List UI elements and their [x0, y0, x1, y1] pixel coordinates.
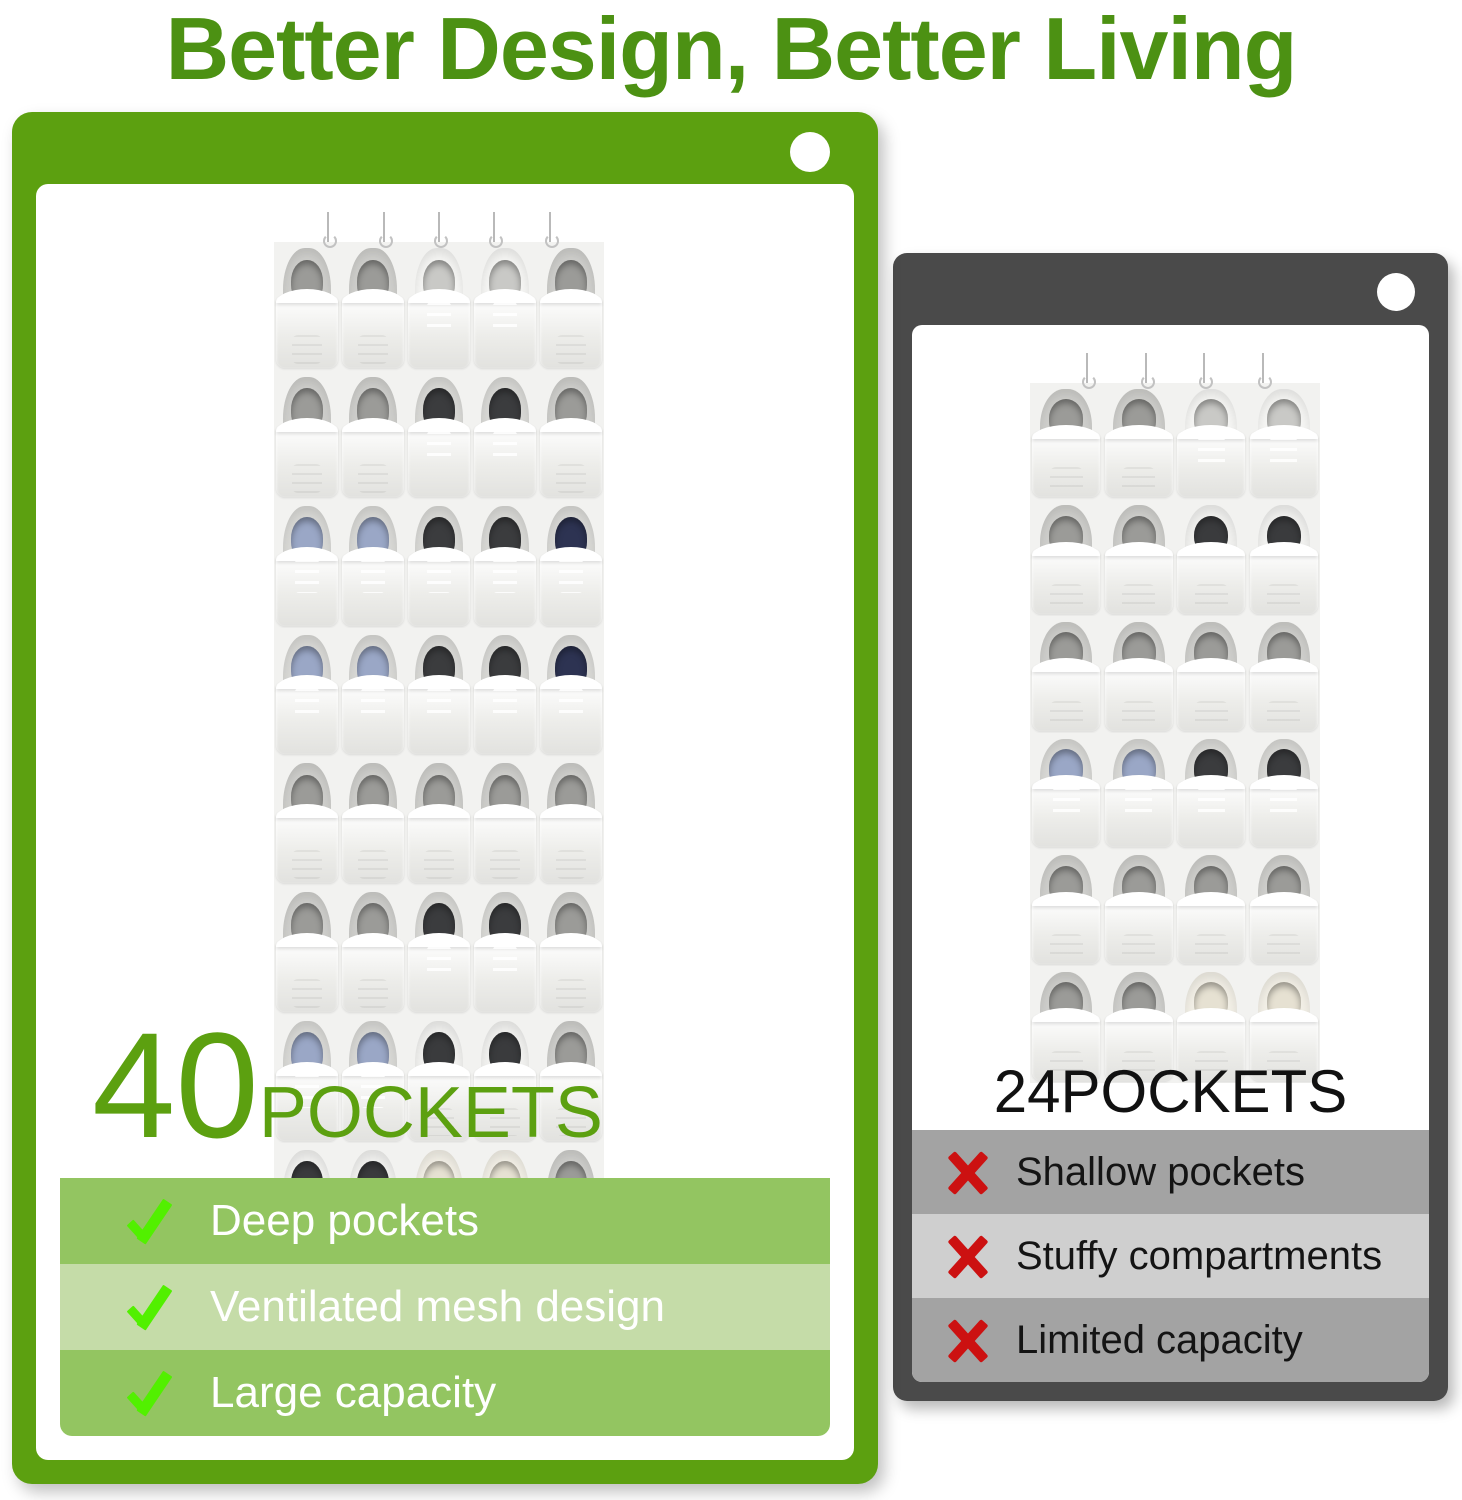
pocket-contents	[427, 431, 452, 464]
pocket-cell	[1030, 383, 1103, 500]
pocket-contents	[1125, 787, 1152, 817]
mesh-pocket	[276, 811, 338, 883]
feature-row: Ventilated mesh design	[60, 1264, 830, 1350]
hanger-hooks	[274, 212, 604, 242]
feature-label: Shallow pockets	[1016, 1150, 1305, 1195]
pocket-contents	[427, 688, 452, 721]
mesh-pocket	[276, 296, 338, 368]
pocket-contents	[358, 850, 388, 879]
pocket-cell	[274, 757, 340, 886]
pocket-contents	[358, 335, 388, 364]
pocket-contents	[295, 688, 320, 721]
pocket-contents	[493, 559, 518, 592]
pocket-contents	[1053, 787, 1080, 817]
mesh-pocket	[474, 554, 536, 626]
pocket-contents	[1050, 467, 1083, 493]
pocket-contents	[1267, 584, 1300, 610]
pocket-contents	[361, 688, 386, 721]
pocket-cell	[1103, 383, 1176, 500]
pocket-contents	[493, 688, 518, 721]
hook-icon	[1262, 353, 1264, 383]
mesh-pocket	[1032, 899, 1100, 964]
pocket-cell	[274, 371, 340, 500]
mesh-pocket	[342, 554, 404, 626]
check-icon	[124, 1192, 182, 1250]
pocket-cell	[274, 500, 340, 629]
feature-row: Shallow pockets	[912, 1130, 1429, 1214]
pocket-contents	[295, 559, 320, 592]
pocket-cell	[274, 886, 340, 1015]
pocket-contents	[559, 688, 584, 721]
check-icon	[124, 1278, 182, 1336]
mesh-pocket	[408, 425, 470, 497]
mesh-pocket	[408, 940, 470, 1012]
pocket-contents	[1270, 437, 1297, 467]
pocket-cell	[340, 500, 406, 629]
feature-row: Large capacity	[60, 1350, 830, 1436]
mesh-pocket	[408, 682, 470, 754]
mesh-pocket	[540, 940, 602, 1012]
mesh-pocket	[474, 811, 536, 883]
pocket-cell	[1175, 733, 1248, 850]
mesh-pocket	[540, 554, 602, 626]
mesh-pocket	[1105, 899, 1173, 964]
pocket-cell	[472, 371, 538, 500]
pocket-cell	[1248, 500, 1321, 617]
mesh-pocket	[276, 425, 338, 497]
mesh-pocket	[342, 425, 404, 497]
competitor-panel: 24POCKETS Shallow pocketsStuffy compartm…	[893, 253, 1448, 1401]
pocket-cell	[1175, 616, 1248, 733]
competitor-feature-list: Shallow pocketsStuffy compartmentsLimite…	[912, 1130, 1429, 1382]
pocket-contents	[556, 335, 586, 364]
pocket-cell	[340, 886, 406, 1015]
pocket-contents	[1122, 701, 1155, 727]
pocket-cell	[406, 500, 472, 629]
pocket-contents	[427, 946, 452, 979]
hook-icon	[1145, 353, 1147, 383]
mesh-pocket	[408, 811, 470, 883]
pocket-contents	[556, 464, 586, 493]
mesh-pocket	[276, 554, 338, 626]
pocket-cell	[1175, 850, 1248, 967]
pocket-cell	[406, 628, 472, 757]
pocket-contents	[1050, 934, 1083, 960]
pocket-contents	[1267, 701, 1300, 727]
cross-icon	[940, 1312, 996, 1368]
pocket-cell	[340, 371, 406, 500]
pocket-cell	[1030, 500, 1103, 617]
pocket-contents	[1195, 934, 1228, 960]
pocket-cell	[1103, 733, 1176, 850]
hook-icon	[549, 212, 551, 242]
mesh-pocket	[1177, 782, 1245, 847]
mesh-pocket	[474, 296, 536, 368]
pocket-cell	[1175, 383, 1248, 500]
mesh-pocket	[1105, 782, 1173, 847]
mesh-pocket	[1032, 665, 1100, 730]
pocket-cell	[1103, 616, 1176, 733]
feature-row: Limited capacity	[912, 1298, 1429, 1382]
mesh-pocket	[276, 940, 338, 1012]
hook-icon	[1086, 353, 1088, 383]
mesh-pocket	[1177, 665, 1245, 730]
pocket-contents	[292, 850, 322, 879]
pocket-cell	[340, 757, 406, 886]
pocket-cell	[1103, 500, 1176, 617]
pocket-contents	[1195, 701, 1228, 727]
hang-hole-icon	[790, 132, 830, 172]
feature-row: Stuffy compartments	[912, 1214, 1429, 1298]
feature-label: Deep pockets	[210, 1196, 479, 1246]
feature-label: Limited capacity	[1016, 1318, 1303, 1363]
pocket-cell	[1248, 733, 1321, 850]
pocket-contents	[1122, 467, 1155, 493]
pocket-contents	[358, 464, 388, 493]
mesh-pocket	[1250, 665, 1318, 730]
feature-label: Ventilated mesh design	[210, 1282, 665, 1332]
mesh-pocket	[1250, 899, 1318, 964]
pocket-contents	[1195, 584, 1228, 610]
pocket-contents	[292, 464, 322, 493]
mesh-pocket	[540, 296, 602, 368]
mesh-pocket	[1250, 782, 1318, 847]
pocket-contents	[493, 302, 518, 335]
pocket-cell	[472, 500, 538, 629]
cross-icon	[940, 1144, 996, 1200]
pocket-cell	[538, 628, 604, 757]
mesh-pocket	[1105, 432, 1173, 497]
competitor-pocket-count: 24POCKETS	[912, 1057, 1429, 1126]
mesh-pocket	[540, 425, 602, 497]
mesh-pocket	[276, 682, 338, 754]
pocket-cell	[472, 242, 538, 371]
mesh-pocket	[1032, 549, 1100, 614]
mesh-pocket	[1105, 549, 1173, 614]
pocket-contents	[1270, 787, 1297, 817]
pocket-cell	[1030, 733, 1103, 850]
mesh-pocket	[1250, 432, 1318, 497]
mesh-pocket	[342, 296, 404, 368]
pocket-cell	[472, 886, 538, 1015]
mesh-pocket	[540, 682, 602, 754]
product-feature-list: Deep pocketsVentilated mesh designLarge …	[60, 1178, 830, 1436]
pocket-cell	[1175, 500, 1248, 617]
mesh-pocket	[1250, 549, 1318, 614]
pocket-cell	[538, 757, 604, 886]
pocket-contents	[493, 946, 518, 979]
pocket-contents	[292, 335, 322, 364]
competitor-product-image	[1030, 383, 1320, 1083]
feature-label: Large capacity	[210, 1368, 496, 1418]
pocket-contents	[556, 979, 586, 1008]
mesh-pocket	[342, 940, 404, 1012]
mesh-pocket	[1177, 899, 1245, 964]
pocket-contents	[1050, 701, 1083, 727]
pocket-count-word: POCKETS	[259, 1072, 603, 1154]
pocket-cell	[406, 242, 472, 371]
hook-icon	[383, 212, 385, 242]
pocket-contents	[490, 850, 520, 879]
pocket-cell	[340, 628, 406, 757]
pocket-cell	[1030, 616, 1103, 733]
product-pocket-count: 40 POCKETS	[92, 1016, 603, 1154]
pocket-cell	[472, 628, 538, 757]
pocket-cell	[1103, 850, 1176, 967]
feature-row: Deep pockets	[60, 1178, 830, 1264]
pocket-cell	[538, 886, 604, 1015]
pocket-cell	[538, 242, 604, 371]
mesh-pocket	[474, 425, 536, 497]
pocket-contents	[424, 850, 454, 879]
hanger-hooks	[1030, 353, 1320, 383]
cross-icon	[940, 1228, 996, 1284]
pocket-contents	[1267, 934, 1300, 960]
pocket-contents	[493, 431, 518, 464]
hook-icon	[438, 212, 440, 242]
pocket-cell	[340, 242, 406, 371]
mesh-pocket	[1105, 665, 1173, 730]
pocket-cell	[1248, 383, 1321, 500]
pocket-contents	[361, 559, 386, 592]
mesh-pocket	[342, 811, 404, 883]
mesh-pocket	[540, 811, 602, 883]
pocket-cell	[538, 371, 604, 500]
pocket-contents	[1198, 787, 1225, 817]
pocket-contents	[1050, 584, 1083, 610]
mesh-pocket	[1032, 782, 1100, 847]
pocket-contents	[427, 302, 452, 335]
hook-icon	[493, 212, 495, 242]
pocket-contents	[427, 559, 452, 592]
pocket-cell	[1248, 850, 1321, 967]
pocket-cell	[406, 757, 472, 886]
pocket-cell	[274, 628, 340, 757]
mesh-pocket	[408, 296, 470, 368]
mesh-pocket	[474, 682, 536, 754]
pocket-cell	[538, 500, 604, 629]
competitor-panel-inner: 24POCKETS Shallow pocketsStuffy compartm…	[912, 325, 1429, 1382]
mesh-pocket	[1032, 432, 1100, 497]
product-panel: 40 POCKETS Deep pocketsVentilated mesh d…	[12, 112, 878, 1484]
hook-icon	[327, 212, 329, 242]
pocket-cell	[472, 757, 538, 886]
mesh-pocket	[342, 682, 404, 754]
mesh-pocket	[408, 554, 470, 626]
page-title: Better Design, Better Living	[0, 0, 1462, 101]
pocket-contents	[559, 559, 584, 592]
pocket-cell	[406, 371, 472, 500]
pocket-contents	[1198, 437, 1225, 467]
pocket-contents	[358, 979, 388, 1008]
pocket-cell	[406, 886, 472, 1015]
hook-icon	[1203, 353, 1205, 383]
pocket-contents	[292, 979, 322, 1008]
pocket-count-number: 40	[92, 1016, 259, 1154]
pocket-grid	[1030, 383, 1320, 1083]
pocket-cell	[1030, 850, 1103, 967]
mesh-pocket	[1177, 432, 1245, 497]
pocket-cell	[274, 242, 340, 371]
check-icon	[124, 1364, 182, 1422]
pocket-cell	[1248, 616, 1321, 733]
pocket-contents	[1122, 584, 1155, 610]
pocket-contents	[556, 850, 586, 879]
pocket-contents	[1122, 934, 1155, 960]
infographic-root: Better Design, Better Living 24POCKETS S…	[0, 0, 1462, 1500]
mesh-pocket	[474, 940, 536, 1012]
product-panel-inner: 40 POCKETS Deep pocketsVentilated mesh d…	[36, 184, 854, 1460]
hang-hole-icon	[1377, 273, 1415, 311]
feature-label: Stuffy compartments	[1016, 1234, 1382, 1279]
mesh-pocket	[1177, 549, 1245, 614]
